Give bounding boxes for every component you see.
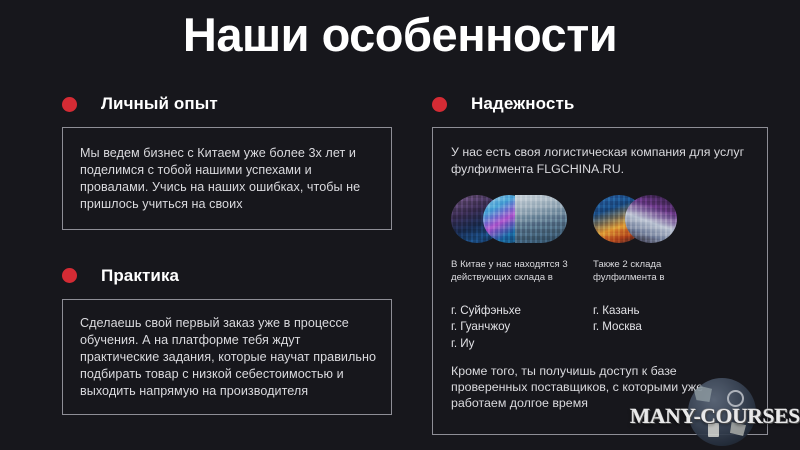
reliability-closing-text: Кроме того, ты получишь доступ к базе пр… xyxy=(451,363,753,411)
card-reliability: У нас есть своя логистическая компания д… xyxy=(432,127,768,435)
bullet-dot-icon xyxy=(62,97,77,112)
section-title: Личный опыт xyxy=(101,94,218,114)
reliability-intro-text: У нас есть своя логистическая компания д… xyxy=(451,144,749,177)
section-title: Практика xyxy=(101,266,179,286)
section-header-reliability: Надежность xyxy=(432,92,768,116)
card-personal-experience: Мы ведем бизнес с Китаем уже более 3х ле… xyxy=(62,127,392,230)
warehouse-image-row xyxy=(451,195,749,243)
card-body-text: Сделаешь свой первый заказ уже в процесс… xyxy=(80,315,377,401)
warehouse-group-china: В Китае у нас находятся 3 действующих ск… xyxy=(451,259,583,353)
bullet-dot-icon xyxy=(432,97,447,112)
column-spacer xyxy=(62,230,392,264)
list-item: г. Гуанчжоу xyxy=(451,319,583,336)
warehouse-lead-text: В Китае у нас находятся 3 действующих ск… xyxy=(451,259,583,285)
list-item: г. Суйфэньхе xyxy=(451,303,583,320)
list-item: г. Москва xyxy=(593,319,725,336)
city-photo-icon xyxy=(625,195,677,243)
russia-cities-photo-collage xyxy=(593,195,725,243)
card-practice: Сделаешь свой первый заказ уже в процесс… xyxy=(62,299,392,416)
bullet-dot-icon xyxy=(62,268,77,283)
warehouse-city-list: г. Суйфэньхе г. Гуанчжоу г. Иу xyxy=(451,303,583,353)
slide-root: Наши особенности Личный опыт Мы ведем би… xyxy=(0,0,800,450)
china-cities-photo-collage xyxy=(451,195,583,243)
section-title: Надежность xyxy=(471,94,574,114)
section-header-personal-experience: Личный опыт xyxy=(62,92,392,116)
warehouse-text-row: В Китае у нас находятся 3 действующих ск… xyxy=(451,259,749,353)
list-item: г. Казань xyxy=(593,303,725,320)
section-header-practice: Практика xyxy=(62,264,392,288)
warehouse-lead-text: Также 2 склада фулфилмента в xyxy=(593,259,725,285)
list-item: г. Иу xyxy=(451,336,583,353)
city-photo-icon xyxy=(515,195,567,243)
warehouse-city-list: г. Казань г. Москва xyxy=(593,303,725,337)
page-title: Наши особенности xyxy=(0,8,800,62)
card-body-text: Мы ведем бизнес с Китаем уже более 3х ле… xyxy=(80,145,375,214)
warehouse-group-russia: Также 2 склада фулфилмента в г. Казань г… xyxy=(593,259,725,353)
left-column: Личный опыт Мы ведем бизнес с Китаем уже… xyxy=(62,92,392,415)
right-column: Надежность У нас есть своя логистическая… xyxy=(432,92,768,435)
